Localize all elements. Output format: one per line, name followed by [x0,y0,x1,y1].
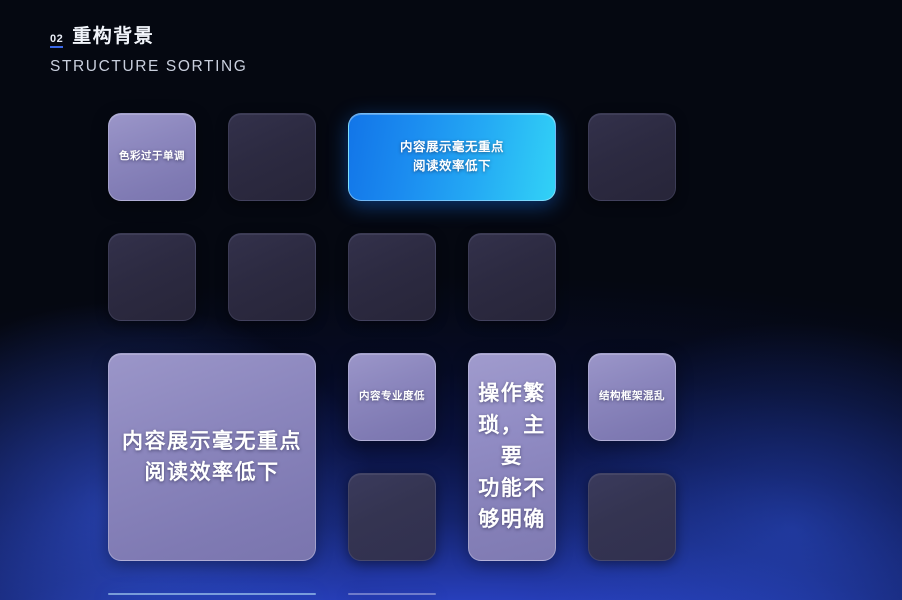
issue-card-label: 浏览体验差 [357,593,428,595]
issue-card-label: 界面层级关系不明确 无主次之分 [145,593,278,595]
placeholder-card [348,233,436,321]
placeholder-card [228,233,316,321]
title-row: 02 重构背景 [50,26,247,48]
issue-card[interactable]: 内容专业度低 [348,353,436,441]
issue-card-label: 内容专业度低 [351,389,433,405]
slide-canvas: 02 重构背景 STRUCTURE SORTING 色彩过于单调内容展示毫无重点… [0,0,902,600]
issue-card[interactable]: 操作繁琐，主要 功能不够明确 [468,353,556,561]
issue-card[interactable]: 界面层级关系不明确 无主次之分 [108,593,316,595]
placeholder-card [228,113,316,201]
issue-card[interactable]: 色彩过于单调 [108,113,196,201]
issue-card[interactable]: 结构框架混乱 [588,353,676,441]
issue-card-label: 色彩过于单调 [111,149,193,165]
placeholder-card [588,473,676,561]
slide-header: 02 重构背景 STRUCTURE SORTING [50,26,247,76]
issue-card-label: 内容展示毫无重点 阅读效率低下 [114,426,310,489]
placeholder-card [468,233,556,321]
issue-card[interactable]: 内容展示毫无重点 阅读效率低下 [108,353,316,561]
issue-card[interactable]: 内容展示毫无重点 阅读效率低下 [348,113,556,201]
page-title: 重构背景 [72,26,154,48]
issue-card-label: 内容展示毫无重点 阅读效率低下 [392,138,512,176]
issue-card-grid: 色彩过于单调内容展示毫无重点 阅读效率低下内容展示毫无重点 阅读效率低下内容专业… [108,113,794,561]
issue-card-label: 结构框架混乱 [591,389,673,405]
issue-card[interactable]: 浏览体验差 [348,593,436,595]
placeholder-card [348,473,436,561]
placeholder-card [108,233,196,321]
placeholder-card [588,113,676,201]
issue-card-label: 操作繁琐，主要 功能不够明确 [469,378,555,536]
section-number: 02 [50,33,63,48]
page-subtitle: STRUCTURE SORTING [50,58,247,76]
